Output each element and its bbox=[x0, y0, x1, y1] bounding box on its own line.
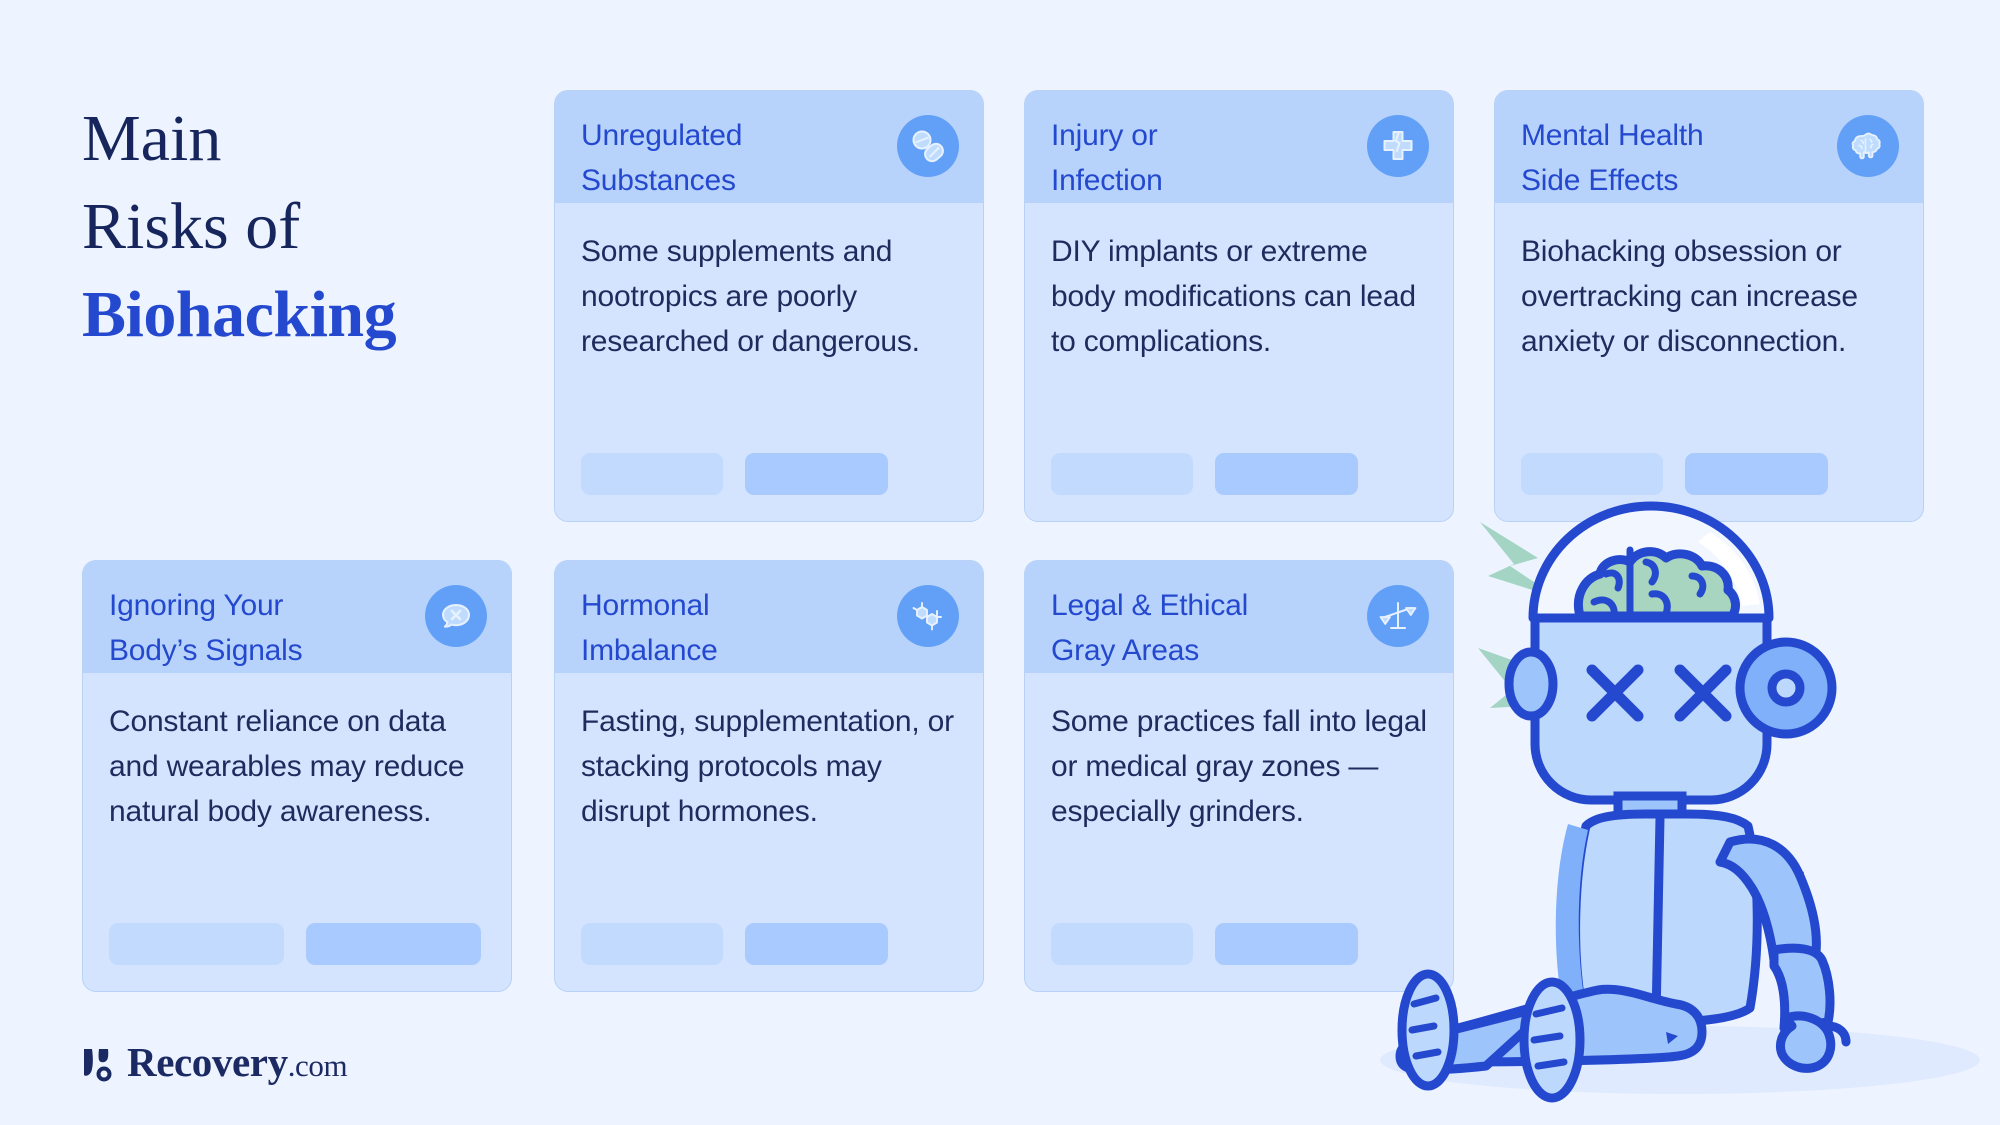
card-title-line-1: Hormonal bbox=[581, 589, 709, 622]
broken-robot-illustration bbox=[1330, 470, 2000, 1125]
card-title: Legal & Ethical Gray Areas bbox=[1051, 583, 1248, 673]
risk-card-injury-or-infection[interactable]: Injury or Infection DIY implants or extr… bbox=[1024, 90, 1454, 522]
card-header: Injury or Infection bbox=[1025, 91, 1453, 203]
card-header: Hormonal Imbalance bbox=[555, 561, 983, 673]
card-chip-placeholder[interactable] bbox=[306, 923, 481, 965]
pills-icon bbox=[897, 115, 959, 177]
card-title: Hormonal Imbalance bbox=[581, 583, 718, 673]
card-title: Ignoring Your Body’s Signals bbox=[109, 583, 302, 673]
card-title: Injury or Infection bbox=[1051, 113, 1163, 203]
card-body: Some supplements and nootropics are poor… bbox=[555, 203, 983, 453]
card-title-line-1: Mental Health bbox=[1521, 119, 1704, 152]
card-title-line-2: Infection bbox=[1051, 164, 1163, 197]
risk-card-ignoring-body-signals[interactable]: Ignoring Your Body’s Signals Constant re… bbox=[82, 560, 512, 992]
leaf-mark-icon bbox=[82, 1046, 114, 1082]
molecule-icon bbox=[897, 585, 959, 647]
card-chip-placeholder[interactable] bbox=[745, 923, 888, 965]
card-description: Fasting, supplementation, or stacking pr… bbox=[581, 699, 957, 834]
risk-card-hormonal-imbalance[interactable]: Hormonal Imbalance bbox=[554, 560, 984, 992]
robot-torso-seam bbox=[1656, 818, 1660, 1018]
logo-text: Recovery.com bbox=[127, 1042, 347, 1086]
card-title-line-2: Substances bbox=[581, 164, 736, 197]
logo-name: Recovery bbox=[127, 1039, 288, 1085]
card-title-line-2: Body’s Signals bbox=[109, 634, 302, 667]
card-chip-placeholder[interactable] bbox=[109, 923, 284, 965]
infographic-canvas: Main Risks of Biohacking Unregulated Sub… bbox=[0, 0, 2000, 1125]
card-chip-placeholder[interactable] bbox=[1051, 453, 1193, 495]
logo-tld: .com bbox=[288, 1048, 348, 1083]
card-header: Mental Health Side Effects bbox=[1495, 91, 1923, 203]
page-title: Main Risks of Biohacking bbox=[82, 95, 552, 359]
card-title: Mental Health Side Effects bbox=[1521, 113, 1704, 203]
page-title-line-1: Main bbox=[82, 95, 552, 183]
card-chip-placeholder[interactable] bbox=[745, 453, 888, 495]
card-title-line-1: Legal & Ethical bbox=[1051, 589, 1248, 622]
card-title: Unregulated Substances bbox=[581, 113, 742, 203]
card-description: Constant reliance on data and wearables … bbox=[109, 699, 485, 834]
card-chip-row bbox=[555, 923, 983, 991]
card-header: Ignoring Your Body’s Signals bbox=[83, 561, 511, 673]
risk-card-mental-health-side-effects[interactable]: Mental Health Side Effects Biohacking ob… bbox=[1494, 90, 1924, 522]
risk-card-unregulated-substances[interactable]: Unregulated Substances Some supplements … bbox=[554, 90, 984, 522]
card-title-line-1: Injury or bbox=[1051, 119, 1158, 152]
robot-head bbox=[1535, 618, 1767, 800]
card-body: Biohacking obsession or overtracking can… bbox=[1495, 203, 1923, 453]
card-chip-placeholder[interactable] bbox=[581, 453, 723, 495]
card-header: Unregulated Substances bbox=[555, 91, 983, 203]
robot-hand bbox=[1780, 1016, 1830, 1068]
card-title-line-2: Side Effects bbox=[1521, 164, 1678, 197]
card-title-line-1: Unregulated bbox=[581, 119, 742, 152]
speech-bubble-x-icon bbox=[425, 585, 487, 647]
card-chip-placeholder[interactable] bbox=[1051, 923, 1193, 965]
card-chip-row bbox=[83, 923, 511, 991]
card-chip-placeholder[interactable] bbox=[581, 923, 723, 965]
card-body: Constant reliance on data and wearables … bbox=[83, 673, 511, 923]
card-chip-row bbox=[555, 453, 983, 521]
card-title-line-2: Gray Areas bbox=[1051, 634, 1199, 667]
recovery-logo[interactable]: Recovery.com bbox=[82, 1042, 347, 1086]
card-body: Fasting, supplementation, or stacking pr… bbox=[555, 673, 983, 923]
card-title-line-2: Imbalance bbox=[581, 634, 718, 667]
brain-icon bbox=[1837, 115, 1899, 177]
card-title-line-1: Ignoring Your bbox=[109, 589, 283, 622]
robot-headphone-center bbox=[1772, 674, 1800, 702]
page-title-accent: Biohacking bbox=[82, 271, 552, 359]
robot-ear-left bbox=[1509, 652, 1553, 716]
card-description: Some supplements and nootropics are poor… bbox=[581, 229, 957, 364]
card-description: Biohacking obsession or overtracking can… bbox=[1521, 229, 1897, 364]
card-description: DIY implants or extreme body modificatio… bbox=[1051, 229, 1427, 364]
broken-cross-icon bbox=[1367, 115, 1429, 177]
card-body: DIY implants or extreme body modificatio… bbox=[1025, 203, 1453, 453]
page-title-line-2: Risks of bbox=[82, 183, 552, 271]
